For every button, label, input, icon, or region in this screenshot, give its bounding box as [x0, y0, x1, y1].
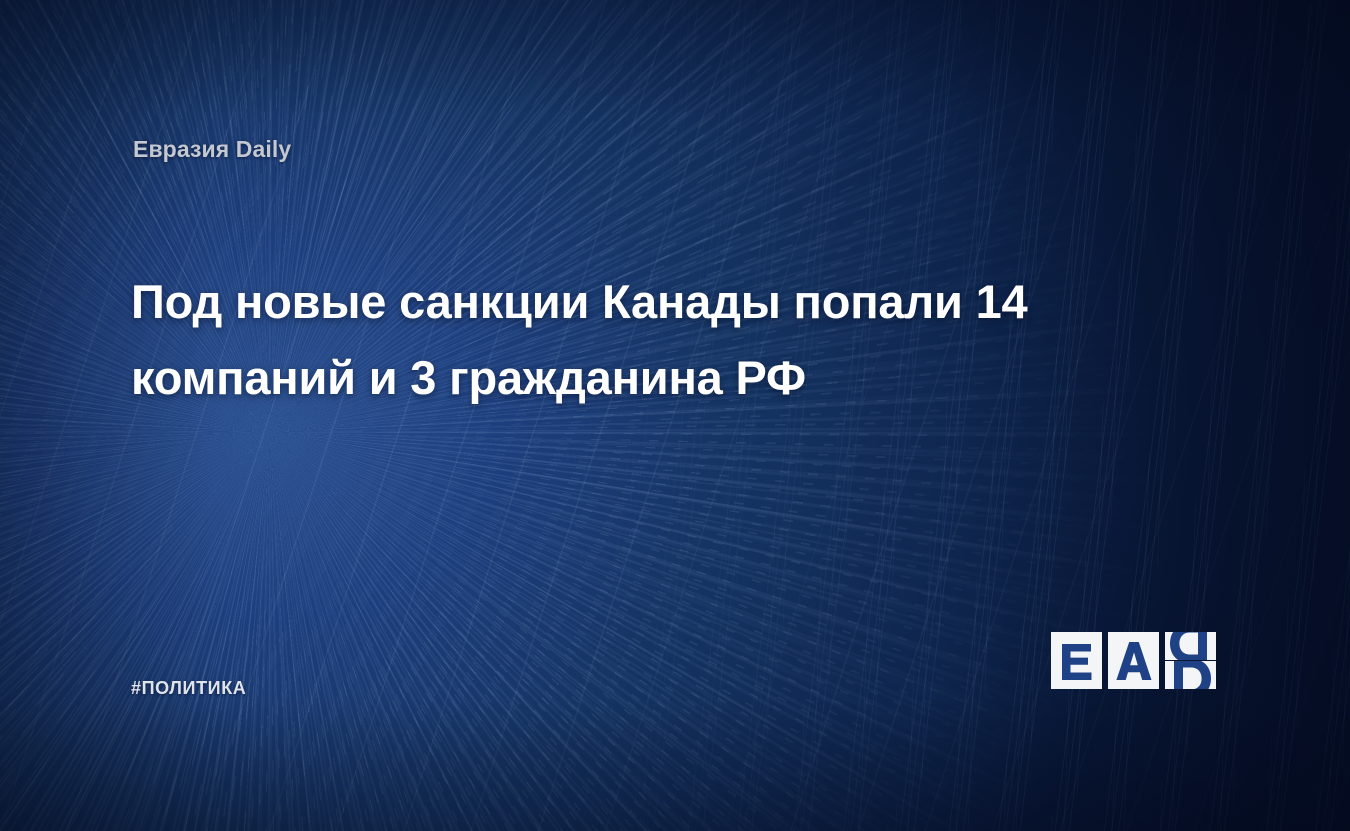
card-content: Евразия Daily Под новые санкции Канады п…: [0, 0, 1350, 831]
brand-wordmark: Евразия Daily: [133, 136, 291, 163]
logo-tile-e: [1051, 632, 1102, 689]
article-share-card: Евразия Daily Под новые санкции Канады п…: [0, 0, 1350, 831]
eadaily-logo[interactable]: [1051, 632, 1216, 689]
article-headline: Под новые санкции Канады попали 14 компа…: [131, 264, 1206, 416]
category-tag[interactable]: #ПОЛИТИКА: [131, 678, 246, 699]
logo-tile-d: [1165, 632, 1216, 689]
logo-d-lower-half: [1165, 661, 1216, 689]
logo-tile-a: [1108, 632, 1159, 689]
logo-d-upper-half: [1165, 632, 1216, 660]
